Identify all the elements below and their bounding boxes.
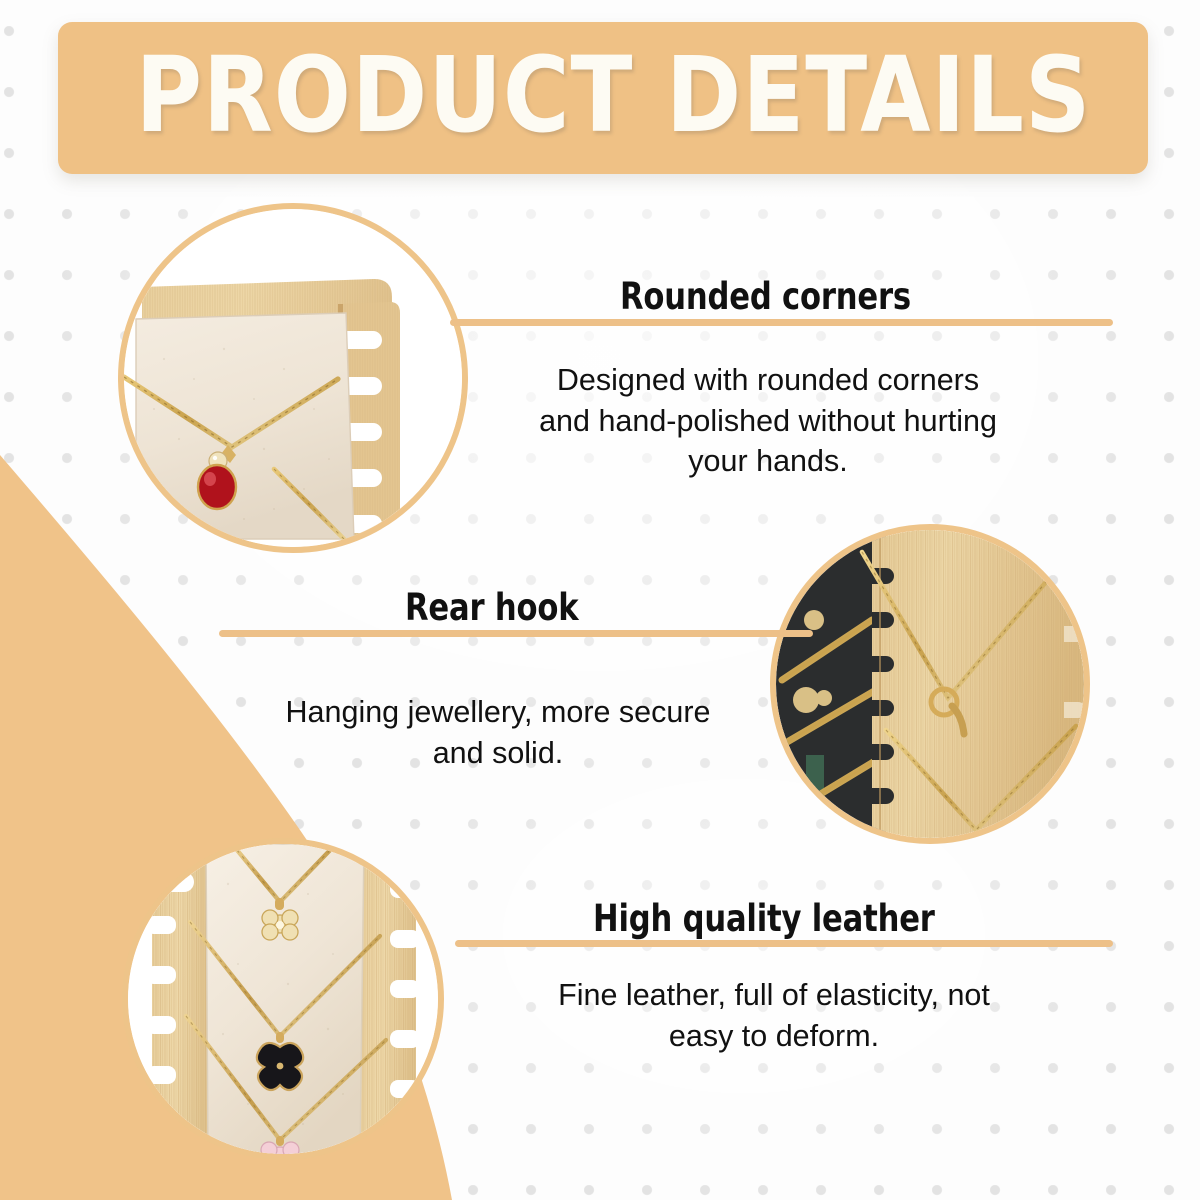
feature-body-rounded-corners: Designed with rounded corners and hand-p… [478, 360, 1058, 482]
feature-heading-rear-hook: Rear hook [405, 589, 578, 626]
feature-rule-rounded-corners [450, 319, 1113, 326]
feature-heading-high-quality-leather: High quality leather [593, 900, 935, 937]
feature-photo-high-quality-leather-image [128, 844, 438, 1154]
feature-photo-rounded-corners [118, 203, 468, 553]
header-banner: PRODUCT DETAILS [58, 22, 1148, 174]
feature-photo-rear-hook [770, 524, 1090, 844]
product-details-infographic: PRODUCT DETAILS [0, 0, 1200, 1200]
feature-heading-rounded-corners: Rounded corners [620, 278, 911, 315]
feature-body-high-quality-leather: Fine leather, full of elasticity, not ea… [484, 975, 1064, 1056]
feature-photo-high-quality-leather [122, 838, 444, 1160]
feature-rule-high-quality-leather [455, 940, 1113, 947]
necklace-board-corner-illustration [124, 209, 462, 547]
feature-photo-rounded-corners-image [124, 209, 462, 547]
feature-rule-rear-hook [219, 630, 813, 637]
feature-photo-rear-hook-image [776, 530, 1084, 838]
leather-pad-necklaces-illustration [128, 844, 438, 1154]
rear-hook-illustration [776, 530, 1084, 838]
feature-body-rear-hook: Hanging jewellery, more secure and solid… [208, 692, 788, 773]
page-title: PRODUCT DETAILS [114, 43, 1091, 153]
